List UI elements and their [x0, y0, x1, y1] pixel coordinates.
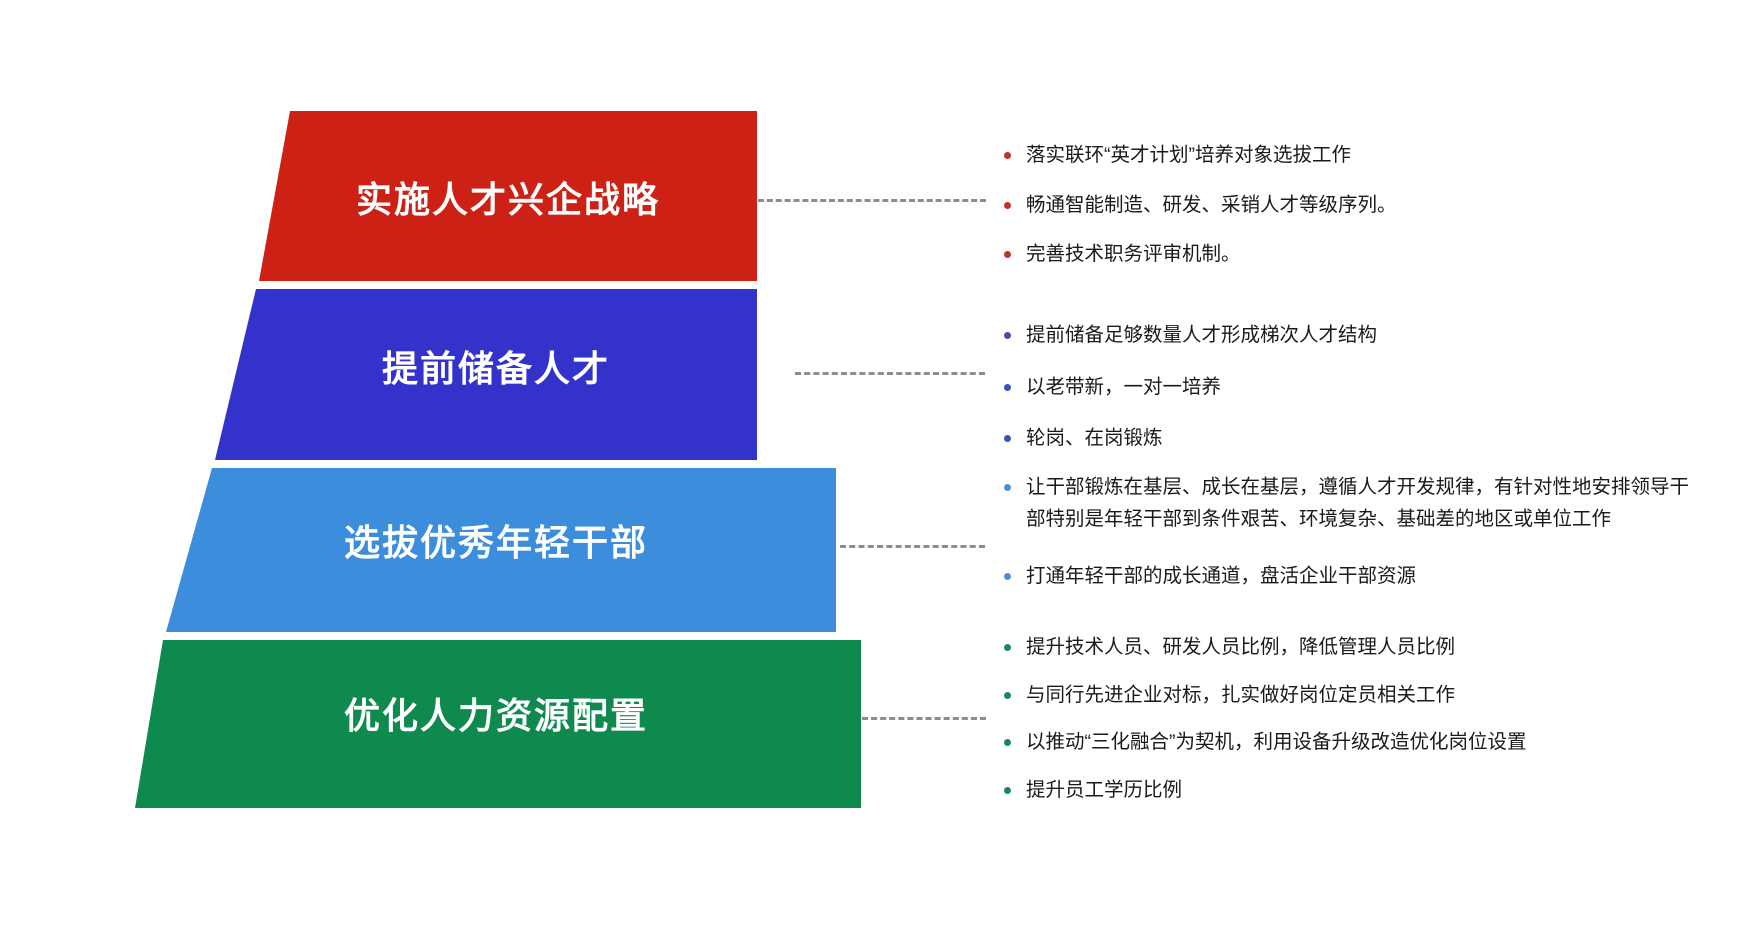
bullet-dot-icon	[1004, 332, 1011, 339]
connector-line-2	[795, 372, 985, 375]
bullet-text: 以推动“三化融合”为契机，利用设备升级改造优化岗位设置	[1026, 727, 1700, 759]
list-item: 提前储备足够数量人才形成梯次人才结构	[1000, 320, 1700, 352]
diagram-canvas: 实施人才兴企战略 提前储备人才 选拔优秀年轻干部 优化人力资源配置 落实联环“英…	[0, 0, 1743, 932]
list-item: 提升技术人员、研发人员比例，降低管理人员比例	[1000, 632, 1700, 664]
bullet-dot-icon	[1004, 251, 1011, 258]
pyramid-band-1-label: 实施人才兴企战略	[356, 171, 660, 223]
bullet-text: 打通年轻干部的成长通道，盘活企业干部资源	[1026, 561, 1700, 593]
bullet-dot-icon	[1004, 739, 1011, 746]
bullet-dot-icon	[1004, 692, 1011, 699]
bullet-text: 以老带新，一对一培养	[1026, 372, 1700, 404]
list-item: 让干部锻炼在基层、成长在基层，遵循人才开发规律，有针对性地安排领导干部特别是年轻…	[1000, 472, 1700, 535]
list-item: 以老带新，一对一培养	[1000, 372, 1700, 404]
connector-line-1	[758, 199, 986, 202]
list-item: 轮岗、在岗锻炼	[1000, 423, 1700, 455]
bullet-dot-icon	[1004, 787, 1011, 794]
list-item: 畅通智能制造、研发、采销人才等级序列。	[1000, 190, 1700, 222]
bullet-text: 畅通智能制造、研发、采销人才等级序列。	[1026, 190, 1700, 222]
bullet-group-1: 落实联环“英才计划”培养对象选拔工作 畅通智能制造、研发、采销人才等级序列。 完…	[1000, 140, 1700, 289]
pyramid-chart: 实施人才兴企战略 提前储备人才 选拔优秀年轻干部 优化人力资源配置	[0, 0, 960, 932]
bullet-text: 轮岗、在岗锻炼	[1026, 423, 1700, 455]
bullet-dot-icon	[1004, 484, 1011, 491]
bullet-dot-icon	[1004, 152, 1011, 159]
bullet-dot-icon	[1004, 384, 1011, 391]
list-item: 以推动“三化融合”为契机，利用设备升级改造优化岗位设置	[1000, 727, 1700, 759]
list-item: 落实联环“英才计划”培养对象选拔工作	[1000, 140, 1700, 172]
pyramid-band-4-label: 优化人力资源配置	[344, 687, 648, 739]
bullet-text: 落实联环“英才计划”培养对象选拔工作	[1026, 140, 1700, 172]
pyramid-shapes	[0, 0, 960, 932]
list-item: 打通年轻干部的成长通道，盘活企业干部资源	[1000, 561, 1700, 593]
pyramid-band-2-label: 提前储备人才	[382, 340, 610, 392]
bullet-dot-icon	[1004, 435, 1011, 442]
bullet-dot-icon	[1004, 202, 1011, 209]
list-item: 提升员工学历比例	[1000, 775, 1700, 807]
connector-line-4	[862, 717, 986, 720]
bullet-group-2: 提前储备足够数量人才形成梯次人才结构 以老带新，一对一培养 轮岗、在岗锻炼	[1000, 320, 1700, 475]
bullet-text: 完善技术职务评审机制。	[1026, 239, 1700, 271]
bullet-dot-icon	[1004, 644, 1011, 651]
list-item: 与同行先进企业对标，扎实做好岗位定员相关工作	[1000, 680, 1700, 712]
bullet-text: 提升技术人员、研发人员比例，降低管理人员比例	[1026, 632, 1700, 664]
list-item: 完善技术职务评审机制。	[1000, 239, 1700, 271]
bullet-text: 让干部锻炼在基层、成长在基层，遵循人才开发规律，有针对性地安排领导干部特别是年轻…	[1026, 472, 1700, 535]
bullet-group-4: 提升技术人员、研发人员比例，降低管理人员比例 与同行先进企业对标，扎实做好岗位定…	[1000, 632, 1700, 822]
bullet-dot-icon	[1004, 573, 1011, 580]
connector-line-3	[840, 545, 985, 548]
bullet-text: 提升员工学历比例	[1026, 775, 1700, 807]
pyramid-band-3-label: 选拔优秀年轻干部	[344, 514, 648, 566]
bullet-text: 提前储备足够数量人才形成梯次人才结构	[1026, 320, 1700, 352]
bullet-text: 与同行先进企业对标，扎实做好岗位定员相关工作	[1026, 680, 1700, 712]
bullet-group-3: 让干部锻炼在基层、成长在基层，遵循人才开发规律，有针对性地安排领导干部特别是年轻…	[1000, 472, 1700, 619]
